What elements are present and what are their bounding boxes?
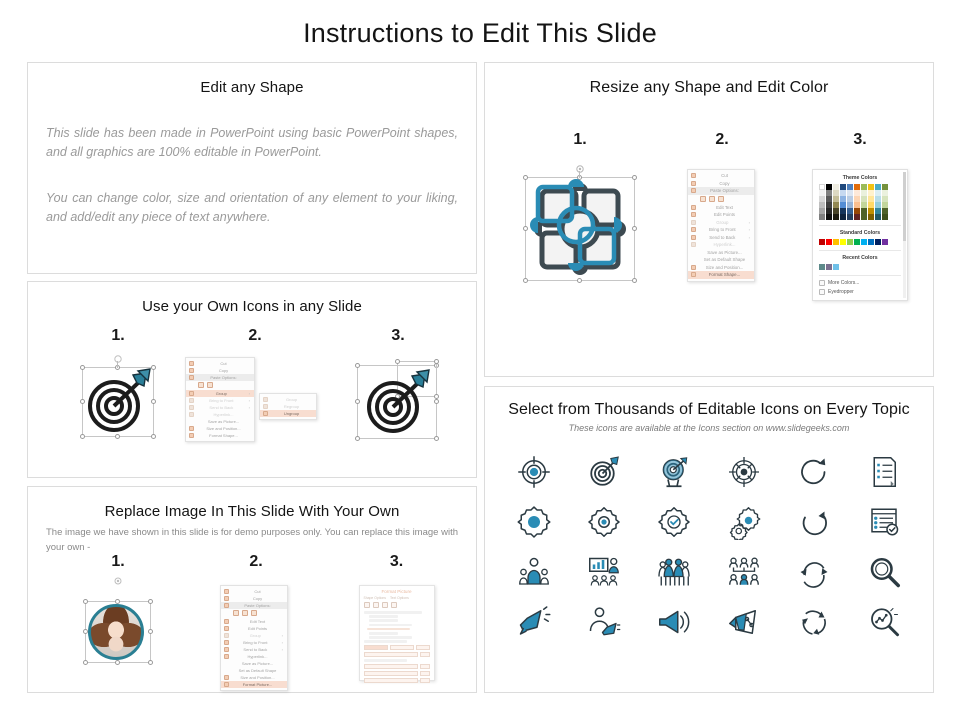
- theme-color-column[interactable]: [847, 184, 853, 220]
- magnifier-icon[interactable]: [866, 554, 902, 590]
- swatch[interactable]: [861, 239, 867, 245]
- copy-icon: [224, 596, 229, 601]
- format-shape-icon: [189, 433, 194, 438]
- context-menu-item[interactable]: Send to Back›: [186, 404, 254, 411]
- shape-context-menu[interactable]: Cut Copy Paste Options: Edit Text Edit P…: [687, 169, 755, 282]
- group-icon: [224, 633, 229, 638]
- context-menu-item[interactable]: Cut: [688, 172, 754, 180]
- theme-color-column[interactable]: [875, 184, 881, 220]
- context-menu-item[interactable]: Copy: [221, 595, 287, 602]
- format-picture-tabs[interactable]: Shape Options Text Options: [364, 596, 430, 600]
- replace-image-lead: The image we have shown in this slide is…: [46, 526, 458, 555]
- person-announce-icon[interactable]: [586, 604, 622, 640]
- context-menu-item[interactable]: Bring to Front›: [186, 397, 254, 404]
- option-line: [369, 624, 413, 627]
- group-submenu[interactable]: Group Regroup Ungroup: [259, 393, 317, 420]
- format-picture-icon: [224, 682, 229, 687]
- standard-colors-row[interactable]: [819, 239, 901, 245]
- paste-options-row[interactable]: [221, 609, 287, 618]
- theme-color-column[interactable]: [833, 184, 839, 220]
- triple-cycle-icon[interactable]: [796, 604, 832, 640]
- magnifier-analysis-icon[interactable]: [866, 604, 902, 640]
- swatch[interactable]: [819, 264, 825, 270]
- panel-title-replace-image: Replace Image In This Slide With Your Ow…: [28, 503, 476, 520]
- context-menu-item[interactable]: Paste Options:: [186, 374, 254, 381]
- context-menu-item[interactable]: Edit Points: [221, 625, 287, 632]
- megaphone-discount-icon[interactable]: [726, 604, 762, 640]
- option-line: [369, 632, 399, 635]
- eyedropper-icon: [819, 289, 825, 295]
- copy-icon: [691, 181, 696, 186]
- panel-use-own-icons: Use your Own Icons in any Slide 1.: [27, 281, 477, 478]
- size-position-icon: [691, 265, 696, 270]
- step-number: 3.: [785, 131, 935, 149]
- own-icons-step-2: 2. Cut Copy Paste Options: Group› Bring …: [180, 327, 330, 449]
- line-cap-field[interactable]: [364, 678, 418, 683]
- step-number: 1.: [58, 553, 178, 571]
- context-menu-item[interactable]: Cut: [221, 588, 287, 595]
- replace-image-step-1: 1.: [58, 553, 178, 673]
- theme-color-column[interactable]: [868, 184, 874, 220]
- step-number: 2.: [180, 327, 330, 345]
- context-menu-item[interactable]: Copy: [186, 367, 254, 374]
- group-icon: [263, 397, 268, 402]
- quad-square-hub-icon: [520, 169, 640, 289]
- swatch[interactable]: [833, 264, 839, 270]
- resize-handle-br[interactable]: [148, 660, 153, 665]
- swatch[interactable]: [868, 239, 874, 245]
- panel-title-edit-shape: Edit any Shape: [28, 79, 476, 96]
- more-colors-option[interactable]: More Colors...: [819, 280, 901, 286]
- panel-title-icons-library: Select from Thousands of Editable Icons …: [485, 401, 933, 419]
- paste-keep-format-icon[interactable]: [700, 196, 706, 202]
- send-back-icon: [189, 405, 194, 410]
- context-menu-item[interactable]: Group›: [688, 219, 754, 227]
- option-line: [369, 619, 399, 622]
- context-menu-item-group[interactable]: Group›: [186, 390, 254, 397]
- context-menu-item[interactable]: Hyperlink...: [186, 411, 254, 418]
- target-stand-icon[interactable]: [656, 454, 692, 490]
- group-icon: [189, 391, 194, 396]
- context-menu[interactable]: Cut Copy Paste Options: Group› Bring to …: [185, 357, 255, 442]
- context-menu-item[interactable]: Paste Options:: [221, 602, 287, 609]
- divider: [819, 225, 901, 226]
- context-menu-item[interactable]: Bring to Front›: [221, 639, 287, 646]
- theme-color-column[interactable]: [819, 184, 825, 220]
- bullhorn-sound-icon[interactable]: [656, 604, 692, 640]
- theme-color-column[interactable]: [861, 184, 867, 220]
- edit-points-icon: [691, 212, 696, 217]
- transparency-value[interactable]: [420, 652, 430, 657]
- edit-text-icon: [224, 619, 229, 624]
- scrollbar-thumb[interactable]: [903, 172, 906, 241]
- size-position-icon: [189, 426, 194, 431]
- edit-text-icon: [691, 205, 696, 210]
- panel-icons-library: Select from Thousands of Editable Icons …: [484, 386, 934, 693]
- panel-title-own-icons: Use your Own Icons in any Slide: [28, 298, 476, 315]
- circular-arrow-icon[interactable]: [796, 504, 832, 540]
- hyperlink-icon: [224, 654, 229, 659]
- gear-solid-icon[interactable]: [516, 504, 552, 540]
- panel-replace-image: Replace Image In This Slide With Your Ow…: [27, 486, 477, 693]
- context-menu-item[interactable]: Format Shape...: [186, 432, 254, 439]
- page-title: Instructions to Edit This Slide: [0, 18, 960, 49]
- swatch[interactable]: [833, 239, 839, 245]
- color-picker-gallery[interactable]: Theme Colors Standard Color: [812, 169, 908, 301]
- regroup-icon: [263, 404, 268, 409]
- tab-shape-options[interactable]: Shape Options: [364, 596, 386, 600]
- paste-picture-icon[interactable]: [251, 610, 257, 616]
- bring-front-icon: [691, 227, 696, 232]
- context-menu-item[interactable]: Size and Position...: [186, 425, 254, 432]
- context-menu-item[interactable]: Group›: [221, 632, 287, 639]
- context-menu-item[interactable]: Send to Back›: [221, 646, 287, 653]
- fill-line-icon[interactable]: [364, 602, 370, 608]
- target-dart-ungrouped-icon: [353, 359, 443, 445]
- line-width-field[interactable]: [364, 664, 418, 669]
- divider: [819, 275, 901, 276]
- replace-image-step-3: 3. Format Picture Shape Options Text Opt…: [334, 553, 459, 681]
- swatch[interactable]: [882, 214, 888, 220]
- swatch[interactable]: [826, 264, 832, 270]
- resize-handle-bl[interactable]: [83, 660, 88, 665]
- submenu-item-ungroup[interactable]: Ungroup: [260, 410, 316, 417]
- paste-merge-icon[interactable]: [709, 196, 715, 202]
- context-menu-item[interactable]: Save as Picture...: [186, 418, 254, 425]
- resize-step-2: 2. Cut Copy Paste Options: Edit Text Edi…: [647, 131, 797, 309]
- bring-front-icon: [224, 640, 229, 645]
- line-style-field[interactable]: [364, 671, 418, 676]
- resize-handle-mr[interactable]: [148, 629, 153, 634]
- dartboard-arrow-icon[interactable]: [586, 454, 622, 490]
- color-swatch-field[interactable]: [364, 645, 388, 650]
- rotate-handle-icon[interactable]: [113, 573, 123, 583]
- chevron-right-icon: ›: [749, 227, 750, 232]
- swatch[interactable]: [833, 214, 839, 220]
- paste-keep-format-icon[interactable]: [233, 610, 239, 616]
- size-position-icon: [224, 675, 229, 680]
- gear-check-icon[interactable]: [656, 504, 692, 540]
- context-menu-item[interactable]: Edit Points: [688, 211, 754, 219]
- chevron-right-icon: ›: [249, 398, 250, 403]
- precision-target-icon[interactable]: [726, 454, 762, 490]
- edit-points-icon: [224, 626, 229, 631]
- context-menu-item[interactable]: Set as Default Shape: [688, 256, 754, 264]
- edit-shape-paragraph-1: This slide has been made in PowerPoint u…: [46, 124, 458, 163]
- format-picture-title: Format Picture: [364, 589, 430, 594]
- chevron-right-icon: ›: [749, 235, 750, 240]
- replace-image-step-2: 2. Cut Copy Paste Options: Edit Text Edi…: [196, 553, 316, 675]
- standard-colors-heading: Standard Colors: [819, 230, 901, 236]
- swatch[interactable]: [840, 214, 846, 220]
- cut-icon: [189, 361, 194, 366]
- theme-color-column[interactable]: [840, 184, 846, 220]
- paste-merge-icon[interactable]: [242, 610, 248, 616]
- step-number: 2.: [196, 553, 316, 571]
- group-icon: [691, 220, 696, 225]
- swatch[interactable]: [882, 239, 888, 245]
- line-style-value[interactable]: [420, 671, 430, 676]
- transparency-slider[interactable]: [364, 652, 418, 657]
- context-menu-item-format-shape[interactable]: Format Shape...: [688, 271, 754, 279]
- recent-colors-heading: Recent Colors: [819, 255, 901, 261]
- ungroup-icon: [263, 411, 268, 416]
- team-leader-icon[interactable]: [516, 554, 552, 590]
- resize-step-1: 1.: [505, 131, 655, 289]
- option-line-selected: [367, 628, 411, 631]
- panel-resize-edit-color: Resize any Shape and Edit Color 1.: [484, 62, 934, 377]
- step-number: 2.: [647, 131, 797, 149]
- paste-icon: [189, 375, 194, 380]
- paste-icon: [691, 188, 696, 193]
- step-number: 1.: [505, 131, 655, 149]
- line-row[interactable]: [364, 671, 430, 676]
- size-properties-icon[interactable]: [382, 602, 388, 608]
- option-line: [364, 640, 408, 643]
- own-icons-step-3: 3.: [338, 327, 458, 445]
- swatch[interactable]: [847, 239, 853, 245]
- hyperlink-icon: [691, 242, 696, 247]
- picture-icon[interactable]: [391, 602, 397, 608]
- paste-picture-icon[interactable]: [718, 196, 724, 202]
- step-number: 1.: [58, 327, 178, 345]
- paste-options-row[interactable]: [186, 381, 254, 390]
- theme-color-column[interactable]: [826, 184, 832, 220]
- recent-colors-row[interactable]: [819, 264, 901, 270]
- context-menu-item[interactable]: Set as Default Shape: [221, 667, 287, 674]
- swatch[interactable]: [826, 214, 832, 220]
- copy-icon: [189, 368, 194, 373]
- section-heading-line: [364, 611, 422, 614]
- chevron-right-icon: ›: [249, 391, 250, 396]
- chevron-right-icon: ›: [282, 633, 283, 638]
- resize-handle-tr[interactable]: [148, 599, 153, 604]
- theme-color-column[interactable]: [882, 184, 888, 220]
- swatch[interactable]: [826, 239, 832, 245]
- format-picture-pane[interactable]: Format Picture Shape Options Text Option…: [359, 585, 435, 681]
- line-row[interactable]: [364, 678, 430, 683]
- option-line: [369, 636, 413, 639]
- scrollbar[interactable]: [903, 172, 906, 298]
- chevron-right-icon: ›: [749, 220, 750, 225]
- checklist-document-icon[interactable]: [866, 454, 902, 490]
- color-value-field[interactable]: [416, 645, 430, 650]
- send-back-icon: [691, 235, 696, 240]
- icons-library-subtitle: These icons are available at the Icons s…: [485, 423, 933, 433]
- swatch[interactable]: [868, 214, 874, 220]
- format-shape-icon: [691, 272, 696, 277]
- hyperlink-icon: [189, 412, 194, 417]
- swatch[interactable]: [840, 239, 846, 245]
- bring-front-icon: [189, 398, 194, 403]
- effects-icon[interactable]: [373, 602, 379, 608]
- panel-edit-any-shape: Edit any Shape This slide has been made …: [27, 62, 477, 274]
- icon-grid: [499, 447, 919, 647]
- context-menu-item[interactable]: Edit Text: [688, 204, 754, 212]
- option-line: [369, 615, 399, 618]
- context-menu-item[interactable]: Hyperlink...: [688, 241, 754, 249]
- two-way-sync-icon[interactable]: [796, 554, 832, 590]
- step-number: 3.: [334, 553, 459, 571]
- swatch[interactable]: [875, 214, 881, 220]
- format-picture-icon-row[interactable]: [364, 602, 430, 608]
- portrait-image: [88, 604, 144, 660]
- context-menu-item[interactable]: Copy: [688, 180, 754, 188]
- context-menu-item[interactable]: Size and Position...: [221, 674, 287, 681]
- panel-title-resize-color: Resize any Shape and Edit Color: [485, 79, 933, 97]
- submenu-item[interactable]: Group: [260, 396, 316, 403]
- context-menu-item[interactable]: Cut: [186, 360, 254, 367]
- send-back-icon: [224, 647, 229, 652]
- slide-canvas: Instructions to Edit This Slide Edit any…: [0, 0, 960, 720]
- context-menu-item[interactable]: Send to Back›: [688, 234, 754, 242]
- crosshair-target-icon[interactable]: [516, 454, 552, 490]
- cut-icon: [224, 589, 229, 594]
- eyedropper-option[interactable]: Eyedropper: [819, 289, 901, 295]
- paste-icon: [224, 603, 229, 608]
- submenu-item[interactable]: Regroup: [260, 403, 316, 410]
- edit-shape-paragraph-2: You can change color, size and orientati…: [46, 189, 458, 228]
- presentation-audience-icon[interactable]: [586, 554, 622, 590]
- swatch[interactable]: [854, 214, 860, 220]
- resize-handle-bc[interactable]: [115, 660, 120, 665]
- target-dart-icon: [76, 359, 160, 445]
- divider: [819, 250, 901, 251]
- chevron-right-icon: ›: [282, 640, 283, 645]
- gear-outline-icon[interactable]: [586, 504, 622, 540]
- step-number: 3.: [338, 327, 458, 345]
- swatch[interactable]: [847, 214, 853, 220]
- color-picker-field[interactable]: [390, 645, 414, 650]
- megaphone-icon[interactable]: [516, 604, 552, 640]
- cut-icon: [691, 173, 696, 178]
- tab-text-options[interactable]: Text Options: [390, 596, 409, 600]
- task-list-check-icon[interactable]: [866, 504, 902, 540]
- swatch[interactable]: [819, 214, 825, 220]
- context-menu-item[interactable]: Size and Position...: [688, 264, 754, 272]
- theme-colors-grid[interactable]: [819, 184, 901, 220]
- context-menu-item[interactable]: Edit Text: [221, 618, 287, 625]
- context-menu-item[interactable]: Hyperlink...: [221, 653, 287, 660]
- swatch[interactable]: [854, 239, 860, 245]
- option-line: [364, 659, 408, 662]
- theme-colors-heading: Theme Colors: [819, 175, 901, 181]
- context-menu-item[interactable]: Save as Picture...: [221, 660, 287, 667]
- paste-options-row[interactable]: [688, 195, 754, 204]
- group-people-icon[interactable]: [656, 554, 692, 590]
- transparency-row[interactable]: [364, 652, 430, 657]
- own-icons-step-1: 1.: [58, 327, 178, 445]
- paste-picture-icon[interactable]: [207, 382, 213, 388]
- line-width-value[interactable]: [420, 664, 430, 669]
- context-menu-item[interactable]: Save as Picture...: [688, 249, 754, 257]
- double-gear-icon[interactable]: [726, 504, 762, 540]
- swatch[interactable]: [875, 239, 881, 245]
- org-chart-people-icon[interactable]: [726, 554, 762, 590]
- swatch[interactable]: [861, 214, 867, 220]
- refresh-arrow-icon[interactable]: [796, 454, 832, 490]
- theme-color-column[interactable]: [854, 184, 860, 220]
- chevron-right-icon: ›: [282, 647, 283, 652]
- line-cap-value[interactable]: [420, 678, 430, 683]
- color-row[interactable]: [364, 645, 430, 650]
- swatch[interactable]: [819, 239, 825, 245]
- chevron-right-icon: ›: [249, 405, 250, 410]
- resize-handle-tl[interactable]: [83, 599, 88, 604]
- context-menu-item-format-picture[interactable]: Format Picture...: [221, 681, 287, 688]
- picture-context-menu[interactable]: Cut Copy Paste Options: Edit Text Edit P…: [220, 585, 288, 691]
- resize-step-3: 3. Theme Colors: [785, 131, 935, 309]
- paste-keep-format-icon[interactable]: [198, 382, 204, 388]
- context-menu-item[interactable]: Paste Options:: [688, 187, 754, 195]
- line-row[interactable]: [364, 664, 430, 669]
- context-menu-item[interactable]: Bring to Front›: [688, 226, 754, 234]
- more-colors-icon: [819, 280, 825, 286]
